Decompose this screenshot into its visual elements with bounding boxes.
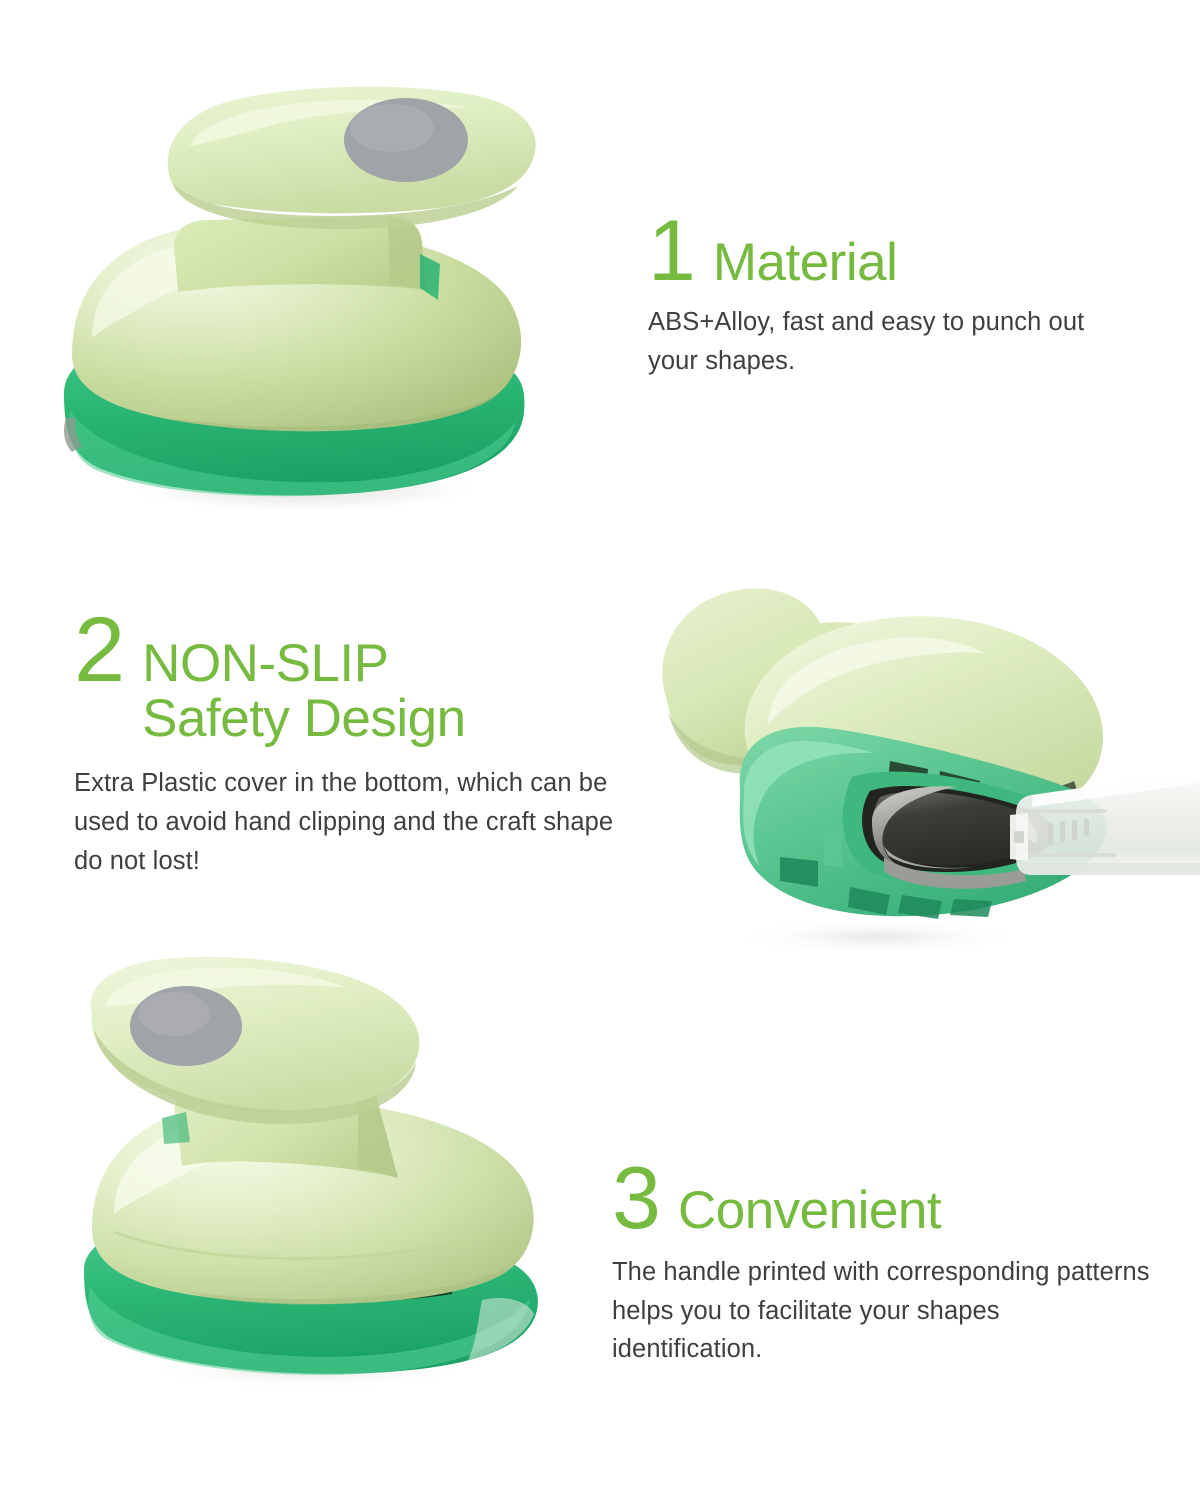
cover-latch-notch xyxy=(1014,831,1024,843)
feature-title-1: Material xyxy=(713,236,898,291)
feature-heading-2: 2 NON-SLIP Safety Design xyxy=(74,608,634,746)
feature-block-non-slip: 2 NON-SLIP Safety Design Extra Plastic c… xyxy=(74,608,634,880)
feature-title-3: Convenient xyxy=(678,1184,941,1239)
feature-number-3: 3 xyxy=(612,1158,660,1239)
cover-bottom-edge xyxy=(1020,863,1200,875)
handle-sticker-highlight xyxy=(138,992,210,1036)
craft-punch-illustration-3 xyxy=(58,952,568,1397)
base-ledge-tab xyxy=(824,827,842,867)
cover-rail-lower xyxy=(1026,853,1116,857)
base-sliver-behind-neck xyxy=(162,1112,190,1144)
feature-heading-1: 1 Material xyxy=(648,212,1118,291)
product-shadow xyxy=(728,919,1028,955)
product-image-front-view xyxy=(48,38,558,518)
feature-number-1: 1 xyxy=(648,212,695,291)
craft-punch-illustration-1 xyxy=(48,38,558,518)
feature-title-2-line-2: Safety Design xyxy=(142,689,465,748)
infographic-page: 1 Material ABS+Alloy, fast and easy to p… xyxy=(0,0,1200,1500)
cover-rail-upper xyxy=(1026,809,1106,813)
feature-body-2: Extra Plastic cover in the bottom, which… xyxy=(74,764,634,880)
product-image-angled-handle-view xyxy=(58,952,568,1397)
feature-title-2-line-1: NON-SLIP xyxy=(142,634,388,693)
feature-body-1: ABS+Alloy, fast and easy to punch out yo… xyxy=(648,303,1118,381)
feature-block-convenient: 3 Convenient The handle printed with cor… xyxy=(612,1158,1152,1369)
feature-body-3: The handle printed with corresponding pa… xyxy=(612,1253,1152,1369)
feature-number-2: 2 xyxy=(74,608,124,693)
feature-title-2: NON-SLIP Safety Design xyxy=(142,637,465,746)
feature-block-material: 1 Material ABS+Alloy, fast and easy to p… xyxy=(648,212,1118,381)
product-image-bottom-cover-view xyxy=(628,575,1200,957)
feature-heading-3: 3 Convenient xyxy=(612,1158,1152,1239)
craft-punch-illustration-2 xyxy=(628,575,1200,957)
handle-sticker-highlight xyxy=(350,104,434,152)
